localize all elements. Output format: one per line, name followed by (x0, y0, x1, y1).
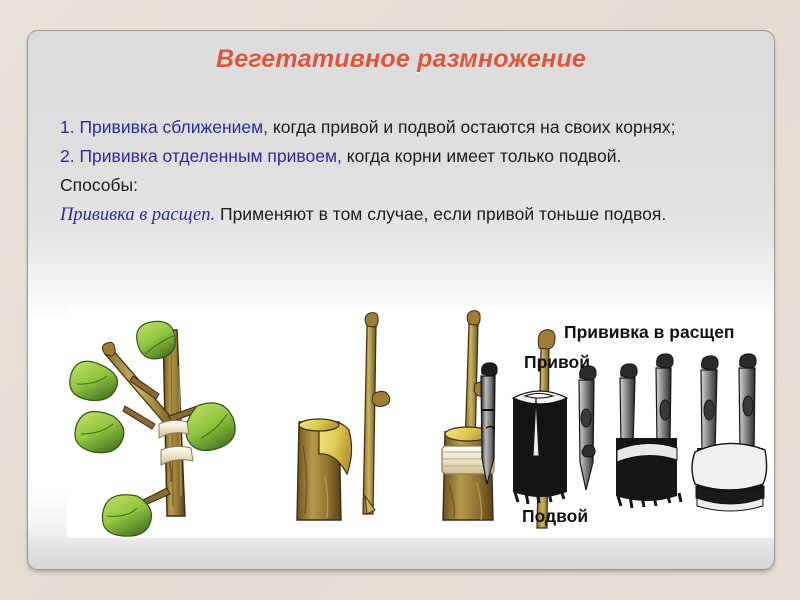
list-item-2-rest: когда корни имеет только подвой. (342, 146, 622, 166)
bw-bud-icon-d3 (660, 400, 670, 420)
bud-icon-top (365, 313, 378, 327)
bw-bud-icon-e4 (743, 396, 753, 416)
list-item-1-highlight: 1. Прививка сближением, (60, 117, 268, 137)
body-text-block: 1. Прививка сближением, когда привой и п… (60, 113, 740, 230)
bw-inserted-scion-left (620, 378, 635, 446)
bw-bud-icon-d1 (621, 364, 637, 378)
grafting-illustration: Прививка в расщеп Привой Подвой (67, 306, 774, 538)
bud-icon-standalone-top (538, 330, 555, 349)
bw-bud-icon-c3 (582, 445, 595, 457)
bw-bud-icon-e2 (704, 400, 714, 420)
illustration-caption-main: Прививка в расщеп (564, 322, 735, 342)
list-item-2: 2. Прививка отделенным привоем, когда ко… (60, 142, 740, 171)
illustration-caption-rootstock: Подвой (522, 506, 588, 526)
bw-bud-icon-e1 (702, 356, 718, 370)
bud-icon-wrapped-top (467, 311, 480, 325)
bw-bud-icon-a (482, 363, 497, 376)
leaf-icon-5 (102, 495, 151, 536)
slide-root: Вегетативное размножение 1. Прививка сбл… (0, 0, 800, 600)
list-item-2-highlight: 2. Прививка отделенным привоем, (60, 146, 342, 166)
bw-figure-split-stock (513, 391, 567, 504)
content-panel: Вегетативное размножение 1. Прививка сбл… (27, 30, 775, 570)
bw-bud-icon-d2 (657, 354, 673, 368)
illustration-caption-scion: Привой (524, 352, 590, 372)
bw-bud-icon-c2 (581, 409, 591, 427)
list-item-3-rest: Применяют в том случае, если привой тонь… (215, 204, 666, 224)
methods-label: Способы: (60, 171, 740, 200)
list-item-1: 1. Прививка сближением, когда привой и п… (60, 113, 740, 142)
stock-cut-face (299, 419, 339, 431)
bw-bud-icon-c (580, 366, 596, 380)
bud-icon-mid (372, 391, 390, 406)
list-item-3-highlight: Прививка в расщеп. (60, 205, 215, 225)
bw-bud-icon-e3 (740, 354, 756, 368)
list-item-1-rest: когда привой и подвой остаются на своих … (268, 117, 675, 137)
page-title: Вегетативное размножение (28, 45, 774, 74)
list-item-3: Прививка в расщеп. Применяют в том случа… (60, 200, 740, 230)
grafting-illustration-svg: Прививка в расщеп Привой Подвой (67, 306, 774, 538)
bw-final-wrap-top (692, 443, 767, 490)
leaf-icon-4 (186, 403, 235, 451)
bud-icon (102, 342, 115, 356)
leaf-icon-2 (137, 321, 176, 359)
bw-stock-body (513, 398, 567, 497)
